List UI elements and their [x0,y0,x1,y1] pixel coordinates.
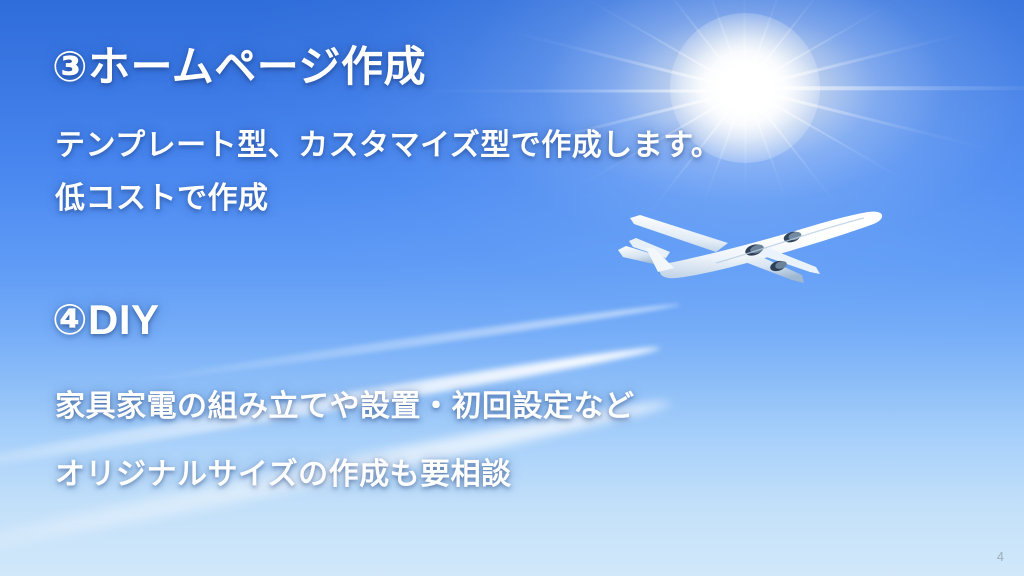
section-4-line-2: オリジナルサイズの作成も要相談 [55,460,512,490]
section-3-line-2: 低コストで作成 [55,184,269,214]
section-4-heading: ④DIY [52,299,160,341]
section-3-line-1: テンプレート型、カスタマイズ型で作成します。 [55,131,721,161]
slide-content: ③ホームページ作成 テンプレート型、カスタマイズ型で作成します。 低コストで作成… [0,0,1024,576]
page-number: 4 [997,549,1004,564]
section-4-line-1: 家具家電の組み立てや設置・初回設定など [55,392,635,422]
slide-canvas: ③ホームページ作成 テンプレート型、カスタマイズ型で作成します。 低コストで作成… [0,0,1024,576]
section-3-heading: ③ホームページ作成 [52,46,426,88]
